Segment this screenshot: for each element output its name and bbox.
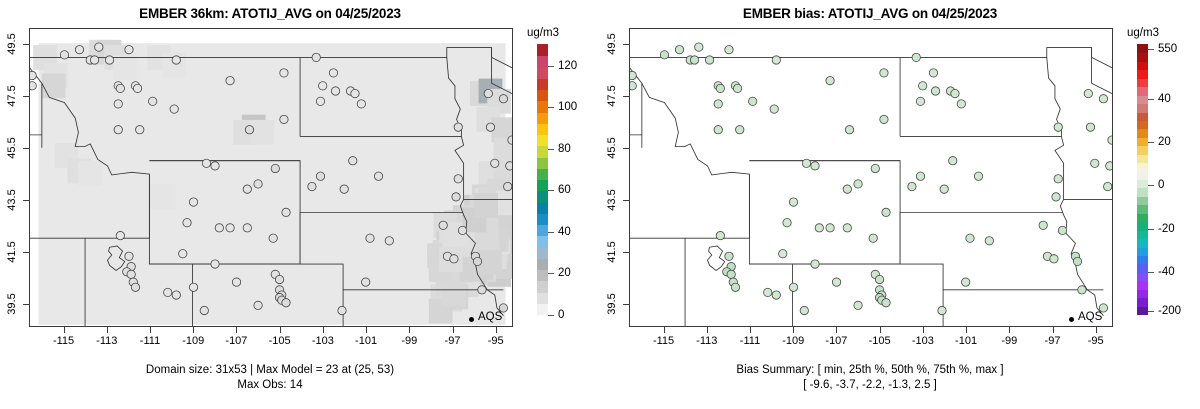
x-tick [836, 327, 837, 333]
bias-marker[interactable] [938, 306, 946, 314]
y-tick-label: 43.5 [606, 189, 618, 210]
observation-marker[interactable] [200, 306, 208, 314]
x-tick [1009, 327, 1010, 333]
colorbar-segment [1137, 306, 1148, 315]
map-canvas-bias [630, 29, 1112, 326]
colorbar-model[interactable]: ug/m3 020406080100120 [537, 45, 597, 328]
observation-marker[interactable] [478, 286, 486, 294]
raster-cell [152, 184, 176, 209]
colorbar-segment [1137, 255, 1148, 264]
bias-marker[interactable] [919, 82, 927, 90]
observation-marker[interactable] [60, 51, 68, 59]
x-tick-label: -115 [53, 335, 74, 347]
colorbar-segment [1137, 146, 1148, 155]
colorbar-segment [1137, 222, 1148, 231]
colorbar-segment [1137, 120, 1148, 129]
colorbar-tick-label: 0 [558, 309, 564, 321]
x-tick-label: -111 [140, 335, 160, 347]
observation-marker[interactable] [164, 288, 172, 296]
observation-marker[interactable] [125, 45, 133, 53]
colorbar-tick-label: 20 [1158, 136, 1171, 148]
bias-marker[interactable] [882, 208, 890, 216]
caption-bias-line2: [ -9.6, -3.7, -2.2, -1.3, 2.5 ] [600, 379, 1140, 391]
colorbar-segment [537, 202, 548, 214]
colorbar-tick [548, 107, 554, 108]
x-tick [1096, 327, 1097, 333]
colorbar-segment [537, 146, 548, 158]
observation-marker[interactable] [374, 172, 382, 180]
observation-marker[interactable] [170, 105, 178, 113]
observation-marker[interactable] [452, 193, 460, 201]
bias-marker[interactable] [727, 270, 735, 278]
y-tick-label: 45.5 [606, 137, 618, 158]
x-tick [366, 327, 367, 333]
observation-marker[interactable] [215, 224, 223, 232]
colorbar-segment [1137, 129, 1148, 138]
observation-marker[interactable] [116, 84, 124, 92]
bias-marker[interactable] [815, 224, 823, 232]
observation-marker[interactable] [329, 69, 337, 77]
colorbar-segment [537, 213, 548, 225]
observation-marker[interactable] [95, 43, 103, 51]
bias-marker[interactable] [705, 56, 713, 64]
observation-marker[interactable] [312, 53, 320, 61]
bias-marker[interactable] [772, 291, 780, 299]
map-plot-bias[interactable]: AQS [629, 28, 1113, 327]
bias-marker[interactable] [1054, 123, 1062, 131]
bias-marker[interactable] [916, 172, 924, 180]
observation-marker[interactable] [484, 89, 492, 97]
observation-marker[interactable] [149, 97, 157, 105]
observation-marker[interactable] [226, 224, 234, 232]
observation-marker[interactable] [282, 208, 290, 216]
colorbar-segment [1137, 154, 1148, 163]
bias-marker[interactable] [1091, 159, 1099, 167]
colorbar-segment [1137, 103, 1148, 112]
raster-cell [78, 161, 102, 186]
bias-marker[interactable] [736, 126, 744, 134]
x-tick [750, 327, 751, 333]
bias-marker[interactable] [1052, 193, 1060, 201]
x-tick [793, 327, 794, 333]
y-tick-label: 41.5 [606, 241, 618, 262]
observation-marker[interactable] [211, 260, 219, 268]
x-tick-label: -103 [312, 335, 334, 347]
caption-model-line1: Domain size: 31x53 | Max Model = 23 at (… [0, 364, 540, 376]
colorbar-segment [537, 258, 548, 270]
bias-marker[interactable] [1054, 175, 1062, 183]
observation-marker[interactable] [254, 180, 262, 188]
observation-marker[interactable] [349, 157, 357, 165]
colorbar-segment [537, 247, 548, 259]
bias-marker[interactable] [1104, 182, 1112, 190]
panel-bias: EMBER bias: ATOTIJ_AVG on 04/25/2023 39.… [600, 0, 1200, 409]
bias-marker[interactable] [731, 283, 739, 291]
observation-marker[interactable] [189, 283, 197, 291]
observation-marker[interactable] [133, 84, 141, 92]
colorbar-segment [537, 292, 548, 304]
colorbar-segment [1137, 188, 1148, 197]
colorbar-tick [1148, 185, 1154, 186]
colorbar-tick [548, 66, 554, 67]
observation-marker[interactable] [331, 87, 339, 95]
observation-marker[interactable] [114, 100, 122, 108]
observation-marker[interactable] [499, 95, 507, 103]
aqs-legend-label: AQS [1078, 311, 1102, 323]
x-axis-bias: -115-113-111-109-107-105-103-101-99-97-9… [629, 327, 1113, 359]
y-tick-label: 45.5 [6, 137, 18, 158]
x-tick-label: -103 [912, 335, 934, 347]
observation-marker[interactable] [473, 257, 481, 265]
observation-marker[interactable] [226, 76, 234, 84]
y-tick-label: 39.5 [6, 293, 18, 314]
observation-marker[interactable] [351, 89, 359, 97]
observation-marker[interactable] [316, 97, 324, 105]
bias-marker[interactable] [951, 89, 959, 97]
bias-marker[interactable] [875, 275, 883, 283]
colorbar-segment [1137, 171, 1148, 180]
x-axis-model: -115-113-111-109-107-105-103-101-99-97-9… [29, 327, 513, 359]
observation-marker[interactable] [136, 126, 144, 134]
bias-marker[interactable] [716, 231, 724, 239]
colorbar-segment [1137, 247, 1148, 256]
observation-marker[interactable] [366, 234, 374, 242]
observation-marker[interactable] [454, 123, 462, 131]
observation-marker[interactable] [316, 172, 324, 180]
bias-marker[interactable] [733, 84, 741, 92]
x-tick [323, 327, 324, 333]
bias-marker[interactable] [832, 278, 840, 286]
y-tick-label: 47.5 [606, 85, 618, 106]
x-tick-label: -101 [355, 335, 377, 347]
figure-root: EMBER 36km: ATOTIJ_AVG on 04/25/2023 39.… [0, 0, 1200, 409]
bias-marker[interactable] [690, 56, 698, 64]
x-tick [236, 327, 237, 333]
colorbar-tick [1148, 142, 1154, 143]
colorbar-segment [537, 67, 548, 79]
colorbar-tick-label: 0 [1158, 179, 1164, 191]
y-tick-label: 49.5 [606, 33, 618, 54]
bias-marker[interactable] [869, 234, 877, 242]
x-tick [496, 327, 497, 333]
bias-marker[interactable] [660, 51, 668, 59]
x-tick-label: -107 [825, 335, 847, 347]
observation-marker[interactable] [275, 275, 283, 283]
y-tick-label: 49.5 [6, 33, 18, 54]
observation-marker[interactable] [125, 252, 133, 260]
observation-marker[interactable] [75, 45, 83, 53]
bias-marker[interactable] [908, 182, 916, 190]
y-tick-label: 47.5 [6, 85, 18, 106]
colorbar-segment [1137, 238, 1148, 247]
bias-marker[interactable] [940, 185, 948, 193]
x-tick [664, 327, 665, 333]
colorbar-segment [1137, 137, 1148, 146]
aqs-legend-dot [1069, 317, 1074, 322]
observation-marker[interactable] [245, 126, 253, 134]
observation-marker[interactable] [30, 82, 36, 90]
colorbar-tick-label: -40 [1158, 266, 1175, 278]
observation-marker[interactable] [319, 82, 327, 90]
colorbar-tick-label: 100 [558, 101, 577, 113]
observation-marker[interactable] [357, 100, 365, 108]
observation-marker[interactable] [338, 306, 346, 314]
map-plot-model[interactable]: AQS [29, 28, 513, 327]
observation-marker[interactable] [105, 56, 113, 64]
bias-marker[interactable] [957, 100, 965, 108]
colorbar-segment [537, 281, 548, 293]
bias-marker[interactable] [871, 164, 879, 172]
bias-marker[interactable] [800, 306, 808, 314]
bias-marker[interactable] [880, 69, 888, 77]
x-tick-label: -105 [269, 335, 291, 347]
observation-marker[interactable] [172, 56, 180, 64]
x-tick-label: -113 [696, 335, 717, 347]
colorbar-segment [1137, 272, 1148, 281]
x-tick-label: -95 [488, 335, 504, 347]
colorbar-segment [537, 157, 548, 169]
colorbar-tick-label: 40 [1158, 93, 1171, 105]
raster-cell [496, 191, 512, 216]
colorbar-segment [537, 101, 548, 113]
observation-marker[interactable] [114, 126, 122, 134]
observation-marker[interactable] [127, 270, 135, 278]
raster-cell [42, 73, 66, 98]
x-tick [966, 327, 967, 333]
bias-marker[interactable] [811, 162, 819, 170]
colorbar-segment [537, 191, 548, 203]
x-tick [409, 327, 410, 333]
colorbar-tick [1148, 99, 1154, 100]
raster-cell [442, 281, 466, 306]
colorbar-segment [537, 44, 548, 56]
raster-cell [251, 120, 275, 145]
x-tick-label: -109 [182, 335, 204, 347]
colorbar-tick [548, 273, 554, 274]
colorbar-segment [1137, 44, 1148, 53]
x-tick [1053, 327, 1054, 333]
bias-marker[interactable] [770, 105, 778, 113]
observation-marker[interactable] [340, 185, 348, 193]
observation-marker[interactable] [506, 162, 512, 170]
x-tick-label: -101 [955, 335, 977, 347]
observation-marker[interactable] [211, 162, 219, 170]
observation-marker[interactable] [189, 198, 197, 206]
colorbar-segment [537, 123, 548, 135]
observation-marker[interactable] [243, 224, 251, 232]
bias-marker[interactable] [949, 157, 957, 165]
bias-marker[interactable] [779, 250, 787, 258]
bias-marker[interactable] [1106, 162, 1112, 170]
aqs-legend-dot [469, 317, 474, 322]
colorbar-segment [1137, 61, 1148, 70]
bias-marker[interactable] [695, 43, 703, 51]
bias-marker[interactable] [716, 84, 724, 92]
bias-marker[interactable] [962, 278, 970, 286]
bias-marker[interactable] [1086, 123, 1094, 131]
bias-marker[interactable] [772, 56, 780, 64]
bias-marker[interactable] [882, 299, 890, 307]
observation-marker[interactable] [282, 299, 290, 307]
panel-title-bias: EMBER bias: ATOTIJ_AVG on 04/25/2023 [600, 6, 1140, 21]
bias-marker[interactable] [789, 283, 797, 291]
colorbar-tick [548, 190, 554, 191]
bias-marker[interactable] [1099, 95, 1107, 103]
observation-marker[interactable] [90, 56, 98, 64]
bias-marker[interactable] [714, 100, 722, 108]
colorbar-bias[interactable]: ug/m3 -200-40-2002040550 [1137, 45, 1197, 328]
bias-marker[interactable] [1039, 221, 1047, 229]
colorbar-tick-label: 550 [1158, 43, 1177, 55]
observation-marker[interactable] [271, 164, 279, 172]
bias-marker[interactable] [966, 234, 974, 242]
colorbar-segment [1137, 53, 1148, 62]
observation-marker[interactable] [232, 278, 240, 286]
bias-marker[interactable] [854, 301, 862, 309]
observation-marker[interactable] [486, 123, 494, 131]
observation-marker[interactable] [491, 159, 499, 167]
colorbar-segment [1137, 78, 1148, 87]
bias-marker[interactable] [1050, 255, 1058, 263]
observation-marker[interactable] [183, 219, 191, 227]
bias-marker[interactable] [826, 224, 834, 232]
observation-marker[interactable] [450, 255, 458, 263]
x-tick-label: -115 [653, 335, 674, 347]
bias-marker[interactable] [843, 185, 851, 193]
map-canvas-model [30, 29, 512, 326]
observation-marker[interactable] [269, 234, 277, 242]
bias-marker[interactable] [1084, 89, 1092, 97]
bias-marker[interactable] [630, 71, 636, 79]
x-tick [923, 327, 924, 333]
observation-marker[interactable] [131, 283, 139, 291]
x-tick [64, 327, 65, 333]
bias-marker[interactable] [789, 198, 797, 206]
bias-marker[interactable] [749, 97, 757, 105]
colorbar-gradient-model [537, 45, 548, 315]
caption-bias-line1: Bias Summary: [ min, 25th %, 50th %, 75t… [600, 364, 1140, 376]
x-tick-label: -99 [401, 335, 417, 347]
y-tick-label: 39.5 [606, 293, 618, 314]
colorbar-segment [537, 303, 548, 315]
observation-marker[interactable] [172, 291, 180, 299]
x-tick [453, 327, 454, 333]
bias-marker[interactable] [764, 288, 772, 296]
y-axis-model: 39.541.543.545.547.549.5 [0, 28, 29, 327]
colorbar-tick [1148, 229, 1154, 230]
bias-marker[interactable] [985, 237, 993, 245]
x-tick-label: -97 [445, 335, 461, 347]
raster-cell [474, 193, 498, 218]
bias-marker[interactable] [675, 45, 683, 53]
observation-marker[interactable] [458, 226, 466, 234]
colorbar-tick [548, 149, 554, 150]
observation-marker[interactable] [179, 250, 187, 258]
observation-marker[interactable] [30, 71, 36, 79]
bias-marker[interactable] [725, 45, 733, 53]
y-axis-bias: 39.541.543.545.547.549.5 [600, 28, 629, 327]
bias-marker[interactable] [802, 159, 810, 167]
observation-marker[interactable] [308, 182, 316, 190]
x-tick-label: -113 [96, 335, 117, 347]
bias-marker[interactable] [826, 76, 834, 84]
colorbar-tick [548, 232, 554, 233]
colorbar-segment [1137, 205, 1148, 214]
colorbar-segment [1137, 289, 1148, 298]
model-domain-fill [39, 43, 506, 325]
colorbar-segment [537, 89, 548, 101]
bias-marker[interactable] [974, 172, 982, 180]
observation-marker[interactable] [243, 185, 251, 193]
bias-marker[interactable] [929, 69, 937, 77]
bias-marker[interactable] [1078, 286, 1086, 294]
x-tick [193, 327, 194, 333]
x-tick [107, 327, 108, 333]
bias-marker[interactable] [714, 126, 722, 134]
bias-marker[interactable] [916, 97, 924, 105]
bias-marker[interactable] [725, 252, 733, 260]
aqs-legend-label: AQS [478, 311, 502, 323]
observation-marker[interactable] [385, 237, 393, 245]
x-tick-label: -109 [782, 335, 804, 347]
bias-marker[interactable] [843, 224, 851, 232]
x-tick-label: -107 [225, 335, 247, 347]
bias-marker[interactable] [630, 82, 636, 90]
observation-marker[interactable] [504, 182, 512, 190]
y-tick-label: 41.5 [6, 241, 18, 262]
observation-marker[interactable] [202, 159, 210, 167]
colorbar-unit-model: ug/m3 [527, 27, 559, 39]
observation-marker[interactable] [454, 175, 462, 183]
observation-marker[interactable] [439, 221, 447, 229]
x-tick [707, 327, 708, 333]
colorbar-segment [537, 236, 548, 248]
colorbar-segment [1137, 163, 1148, 172]
raster-cell [113, 55, 137, 80]
bias-marker[interactable] [912, 53, 920, 61]
model-raster-layer [33, 40, 512, 325]
bias-marker[interactable] [931, 87, 939, 95]
observation-marker[interactable] [280, 69, 288, 77]
bias-marker[interactable] [1073, 257, 1081, 265]
x-tick-label: -97 [1045, 335, 1061, 347]
colorbar-segment [537, 78, 548, 90]
bias-marker[interactable] [845, 126, 853, 134]
bias-marker[interactable] [854, 180, 862, 188]
colorbar-tick-label: 20 [558, 267, 571, 279]
bias-marker[interactable] [1058, 226, 1066, 234]
colorbar-segment [1137, 196, 1148, 205]
observation-marker[interactable] [280, 115, 288, 123]
observation-marker[interactable] [116, 231, 124, 239]
y-tick-label: 43.5 [6, 189, 18, 210]
bias-marker[interactable] [880, 115, 888, 123]
colorbar-segment [537, 179, 548, 191]
panel-model: EMBER 36km: ATOTIJ_AVG on 04/25/2023 39.… [0, 0, 600, 409]
x-tick-label: -105 [869, 335, 891, 347]
colorbar-unit-bias: ug/m3 [1127, 27, 1159, 39]
observation-marker[interactable] [362, 278, 370, 286]
colorbar-segment [537, 224, 548, 236]
observation-marker[interactable] [254, 301, 262, 309]
colorbar-gradient-bias [1137, 45, 1148, 315]
colorbar-tick [1148, 311, 1154, 312]
x-tick [880, 327, 881, 333]
bias-marker[interactable] [811, 260, 819, 268]
x-tick [150, 327, 151, 333]
colorbar-segment [1137, 179, 1148, 188]
bias-marker[interactable] [783, 219, 791, 227]
